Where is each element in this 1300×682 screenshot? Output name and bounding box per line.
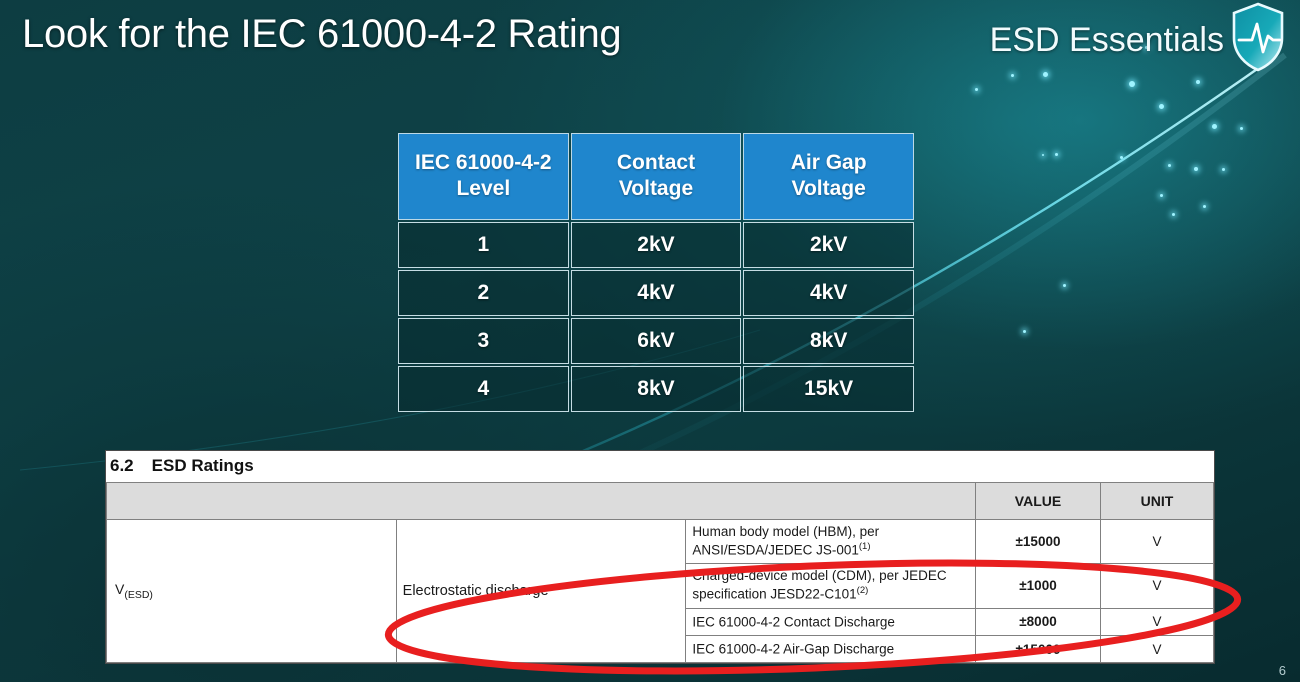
particle-dot — [1240, 127, 1243, 130]
table-row: V(ESD) Electrostatic discharge Human bod… — [107, 520, 1214, 564]
particle-dot — [1196, 80, 1200, 84]
slide-page-number: 6 — [1279, 663, 1286, 678]
particle-dot — [1120, 156, 1123, 159]
particle-dot — [1063, 284, 1066, 287]
cell-level: 4 — [398, 366, 569, 412]
particle-dot — [1023, 330, 1026, 333]
cell-air-gap-voltage: 2kV — [743, 222, 914, 268]
table-header-row: VALUE UNIT — [107, 483, 1214, 520]
page-title: Look for the IEC 61000-4-2 Rating — [22, 12, 621, 57]
cell-value: ±15000 — [976, 635, 1101, 662]
symbol-subscript: (ESD) — [124, 589, 153, 601]
column-header-level: IEC 61000-4-2 Level — [398, 133, 569, 220]
footnote-marker: (2) — [857, 585, 869, 596]
cell-symbol: V(ESD) — [107, 520, 397, 663]
cell-contact-voltage: 2kV — [571, 222, 742, 268]
particle-dot — [975, 88, 978, 91]
cell-air-gap-voltage: 8kV — [743, 318, 914, 364]
table-row: 2 4kV 4kV — [398, 270, 914, 316]
cell-level: 1 — [398, 222, 569, 268]
cell-air-gap-voltage: 4kV — [743, 270, 914, 316]
cell-unit: V — [1101, 608, 1214, 635]
particle-dot — [1203, 205, 1206, 208]
cell-condition: Charged-device model (CDM), per JEDEC sp… — [686, 564, 976, 608]
cell-level: 2 — [398, 270, 569, 316]
cell-value: ±1000 — [976, 564, 1101, 608]
brand-lockup: ESD Essentials — [990, 8, 1286, 72]
table-header-row: IEC 61000-4-2 Level Contact Voltage Air … — [398, 133, 914, 220]
cell-contact-voltage: 4kV — [571, 270, 742, 316]
particle-dot — [1055, 153, 1058, 156]
table-row: 1 2kV 2kV — [398, 222, 914, 268]
table-row: 3 6kV 8kV — [398, 318, 914, 364]
column-header-air-gap-voltage: Air Gap Voltage — [743, 133, 914, 220]
particle-dot — [1159, 104, 1164, 109]
cell-air-gap-voltage: 15kV — [743, 366, 914, 412]
particle-dot — [1129, 81, 1135, 87]
footnote-marker: (1) — [859, 541, 871, 552]
esd-ratings-table: VALUE UNIT V(ESD) Electrostatic discharg… — [106, 482, 1214, 663]
particle-dot — [1042, 154, 1044, 156]
datasheet-excerpt: 6.2ESD Ratings VALUE UNIT V(ESD) Electro… — [105, 450, 1215, 664]
cell-condition: IEC 61000-4-2 Air-Gap Discharge — [686, 635, 976, 662]
cell-parameter: Electrostatic discharge — [396, 520, 686, 663]
particle-dot — [1168, 164, 1171, 167]
column-header-blank — [107, 483, 976, 520]
cell-condition: Human body model (HBM), per ANSI/ESDA/JE… — [686, 520, 976, 564]
cell-unit: V — [1101, 564, 1214, 608]
particle-dot — [1043, 72, 1048, 77]
column-header-value: VALUE — [976, 483, 1101, 520]
brand-name: ESD Essentials — [990, 21, 1224, 60]
particle-dot — [1160, 194, 1163, 197]
column-header-contact-voltage: Contact Voltage — [571, 133, 742, 220]
cell-value: ±8000 — [976, 608, 1101, 635]
particle-dot — [1212, 124, 1217, 129]
cell-condition: IEC 61000-4-2 Contact Discharge — [686, 608, 976, 635]
cell-contact-voltage: 8kV — [571, 366, 742, 412]
cell-value: ±15000 — [976, 520, 1101, 564]
column-header-unit: UNIT — [1101, 483, 1214, 520]
iec-level-table: IEC 61000-4-2 Level Contact Voltage Air … — [396, 131, 916, 414]
slide-canvas: Look for the IEC 61000-4-2 Rating ESD Es… — [0, 0, 1300, 682]
table-row: 4 8kV 15kV — [398, 366, 914, 412]
cell-unit: V — [1101, 520, 1214, 564]
cell-level: 3 — [398, 318, 569, 364]
cell-unit: V — [1101, 635, 1214, 662]
shield-heartbeat-icon — [1230, 2, 1286, 72]
datasheet-section-heading: 6.2ESD Ratings — [106, 451, 1214, 482]
cell-contact-voltage: 6kV — [571, 318, 742, 364]
particle-dot — [1172, 213, 1175, 216]
particle-dot — [1194, 167, 1198, 171]
section-number: 6.2 — [110, 456, 134, 475]
particle-dot — [1011, 74, 1014, 77]
particle-dot — [1222, 168, 1225, 171]
section-title: ESD Ratings — [152, 456, 254, 475]
